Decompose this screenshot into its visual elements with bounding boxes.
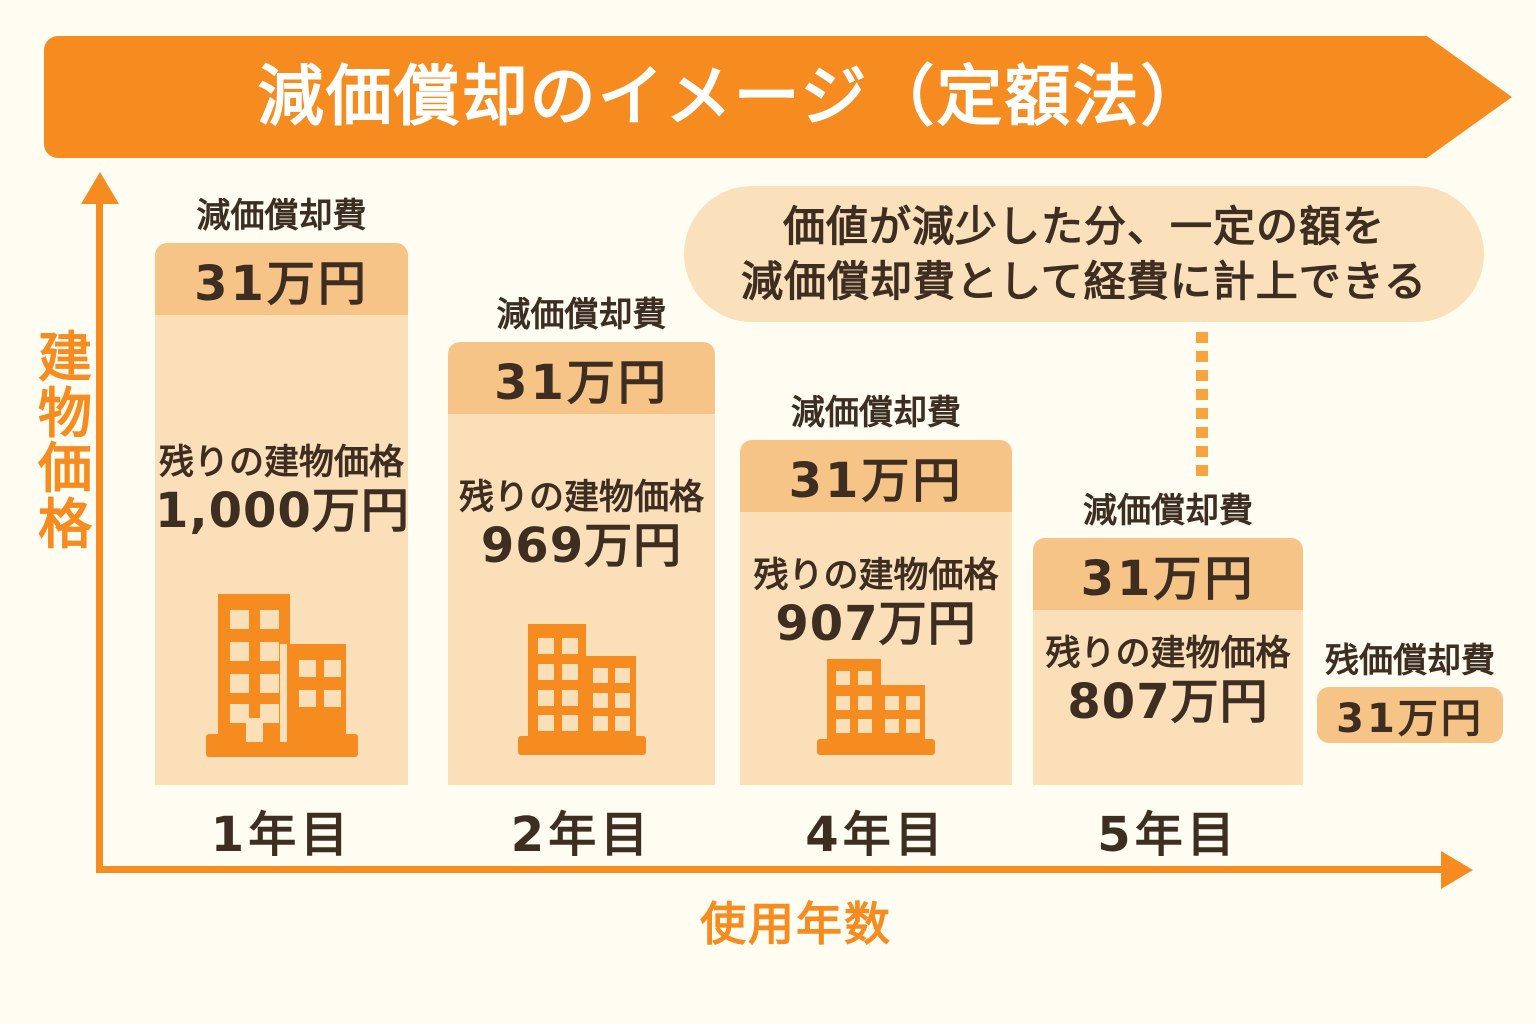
bar-4-remaining-text: 残りの建物価格 807万円 [1033,634,1303,732]
page-title: 減価償却のイメージ（定額法） [44,64,1422,130]
bar-3-depreciation-value: 31万円 [789,441,964,511]
bar-3-remaining-value: 907万円 [740,596,1012,654]
x-axis-label: 使用年数 [700,888,892,954]
bar-4-year-label: 5年目 [1033,795,1303,865]
callout-line-1: 価値が減少した分、一定の額を [741,199,1427,254]
bar-1-remaining-text: 残りの建物価格 1,000万円 [155,443,408,541]
bar-4-remaining-label: 残りの建物価格 [1033,634,1303,674]
bar-2-depreciation-caption: 減価償却費 [448,287,715,336]
bar-year-4: 減価償却費 31万円 残りの建物価格 907万円 [740,440,1012,785]
bar-1-depreciation-caption: 減価償却費 [155,188,408,237]
bar-1-remaining-value: 1,000万円 [155,483,408,541]
bar-3-depreciation-segment: 31万円 [740,440,1012,512]
bar-3-remaining-label: 残りの建物価格 [740,556,1012,596]
bar-4-remaining-value: 807万円 [1033,674,1303,732]
y-axis-label: 建物価格 [34,330,96,552]
title-banner: 減価償却のイメージ（定額法） [44,36,1512,158]
bar-4-depreciation-caption: 減価償却費 [1033,483,1303,532]
bar-2-remaining-text: 残りの建物価格 969万円 [448,478,715,576]
bar-2-remaining-value: 969万円 [448,518,715,576]
callout-text: 価値が減少した分、一定の額を 減価償却費として経費に計上できる [741,199,1427,310]
bar-year-2: 減価償却費 31万円 残りの建物価格 969万円 [448,342,715,785]
callout-line-2: 減価償却費として経費に計上できる [741,254,1427,309]
y-axis-line [96,196,103,872]
x-axis-line [96,866,1441,873]
bar-1-remaining-label: 残りの建物価格 [155,443,408,483]
bar-3-remaining-text: 残りの建物価格 907万円 [740,556,1012,654]
residual-value: 31万円 [1336,686,1484,744]
bar-3-depreciation-caption: 減価償却費 [740,385,1012,434]
bar-2-depreciation-segment: 31万円 [448,342,715,414]
bar-2-remaining-label: 残りの建物価格 [448,478,715,518]
bar-year-1: 減価償却費 31万円 残りの建物価格 1,000万円 [155,243,408,785]
callout-dotted-connector [1196,332,1208,484]
building-icon [206,594,358,757]
bar-year-5: 減価償却費 31万円 残りの建物価格 807万円 5年目 [1033,538,1303,785]
bar-1-year-label: 1年目 [155,795,408,865]
bar-1-depreciation-segment: 31万円 [155,243,408,315]
building-icon [817,659,935,755]
residual-label: 残価償却費 [1317,643,1503,680]
bar-4-depreciation-segment: 31万円 [1033,538,1303,610]
residual-depreciation-group: 残価償却費 31万円 [1317,643,1503,743]
bar-2-depreciation-value: 31万円 [494,343,669,413]
callout-bubble: 価値が減少した分、一定の額を 減価償却費として経費に計上できる [684,186,1484,322]
building-icon [518,624,646,755]
bar-1-depreciation-value: 31万円 [194,244,369,314]
x-axis-arrow-icon [1441,851,1473,889]
bar-3-year-label: 4年目 [740,795,1012,865]
infographic-canvas: 減価償却のイメージ（定額法） 建物価格 使用年数 減価償却費 31万円 残りの建… [0,0,1536,1024]
residual-value-pill: 31万円 [1317,687,1503,743]
bar-2-year-label: 2年目 [448,795,715,865]
bar-4-depreciation-value: 31万円 [1081,539,1256,609]
